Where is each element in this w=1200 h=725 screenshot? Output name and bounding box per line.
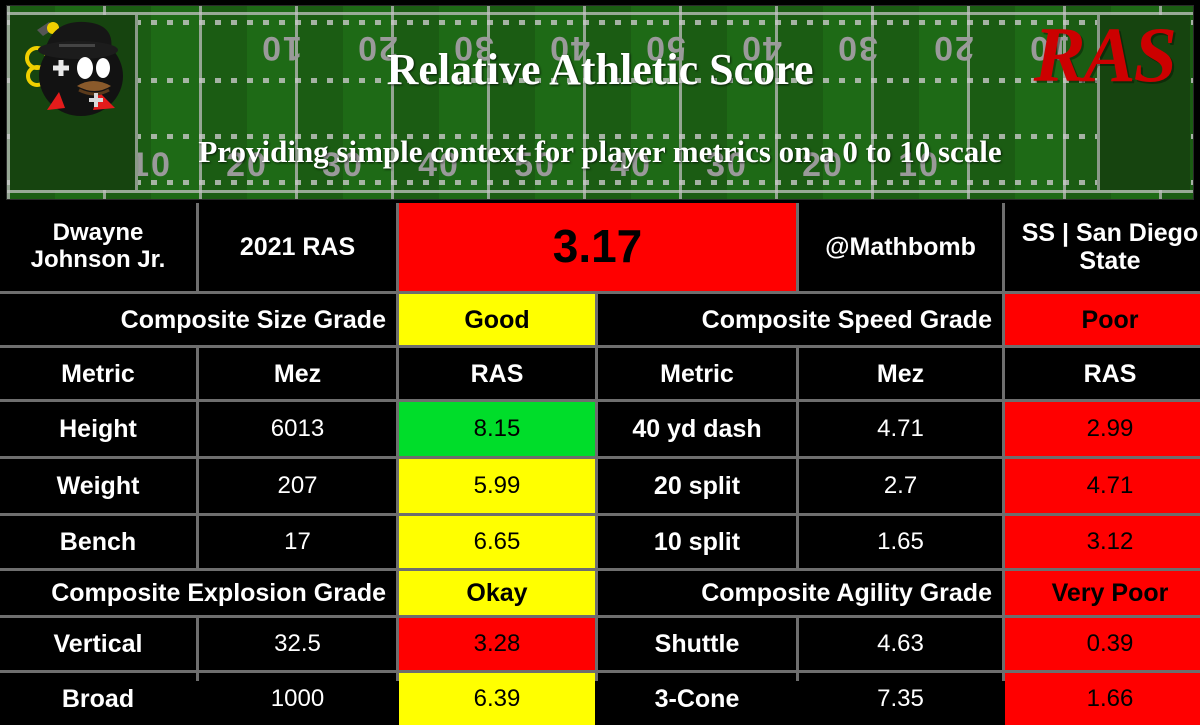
table-row: 20 split [598,459,796,513]
table-row: 10 split [598,516,796,568]
sideline-top [7,12,1193,15]
banner-title: Relative Athletic Score [7,48,1193,92]
table-row: 2.99 [1005,402,1200,456]
ras-logo: RAS [1034,16,1175,94]
football-field-graphic: 10 20 30 40 50 40 30 20 10 10 20 30 40 5… [6,5,1194,200]
col-header-mez-right: Mez [799,348,1002,399]
bomb-mascot-icon [19,14,137,126]
table-row: Bench [0,516,196,568]
table-row: 6013 [199,402,396,456]
composite-agility-grade: Very Poor [1005,571,1200,615]
composite-explosion-grade: Okay [399,571,595,615]
banner: 10 20 30 40 50 40 30 20 10 10 20 30 40 5… [0,0,1200,203]
hash-marks-row [7,180,1193,185]
ras-table: Dwayne Johnson Jr. 2021 RAS 3.17 @Mathbo… [0,203,1200,681]
hash-marks-row [7,20,1193,25]
player-name: Dwayne Johnson Jr. [0,203,196,291]
table-row: 3.12 [1005,516,1200,568]
composite-speed-label: Composite Speed Grade [598,294,1002,345]
composite-explosion-label: Composite Explosion Grade [0,571,396,615]
composite-size-grade: Good [399,294,595,345]
table-row: 1.65 [799,516,1002,568]
table-row: 3.28 [399,618,595,670]
table-row: 207 [199,459,396,513]
composite-size-label: Composite Size Grade [0,294,396,345]
table-row: 6.65 [399,516,595,568]
author-handle: @Mathbomb [799,203,1002,291]
table-row: 40 yd dash [598,402,796,456]
table-row: Weight [0,459,196,513]
col-header-ras-left: RAS [399,348,595,399]
banner-subtitle: Providing simple context for player metr… [7,136,1193,167]
overall-ras-score: 3.17 [399,203,796,291]
table-row: Shuttle [598,618,796,670]
composite-speed-grade: Poor [1005,294,1200,345]
col-header-metric-left: Metric [0,348,196,399]
table-row: 4.63 [799,618,1002,670]
table-row: 5.99 [399,459,595,513]
table-row: Vertical [0,618,196,670]
col-header-metric-right: Metric [598,348,796,399]
table-row: 4.71 [799,402,1002,456]
col-header-mez-left: Mez [199,348,396,399]
table-row: 0.39 [1005,618,1200,670]
ras-card: 10 20 30 40 50 40 30 20 10 10 20 30 40 5… [0,0,1200,681]
sideline-bottom [7,190,1193,193]
ras-year-label: 2021 RAS [199,203,396,291]
table-row: 17 [199,516,396,568]
table-row: 2.7 [799,459,1002,513]
composite-agility-label: Composite Agility Grade [598,571,1002,615]
table-row: 8.15 [399,402,595,456]
col-header-ras-right: RAS [1005,348,1200,399]
table-row: Height [0,402,196,456]
table-row: 4.71 [1005,459,1200,513]
table-row: 32.5 [199,618,396,670]
position-school: SS | San Diego State [1005,203,1200,291]
